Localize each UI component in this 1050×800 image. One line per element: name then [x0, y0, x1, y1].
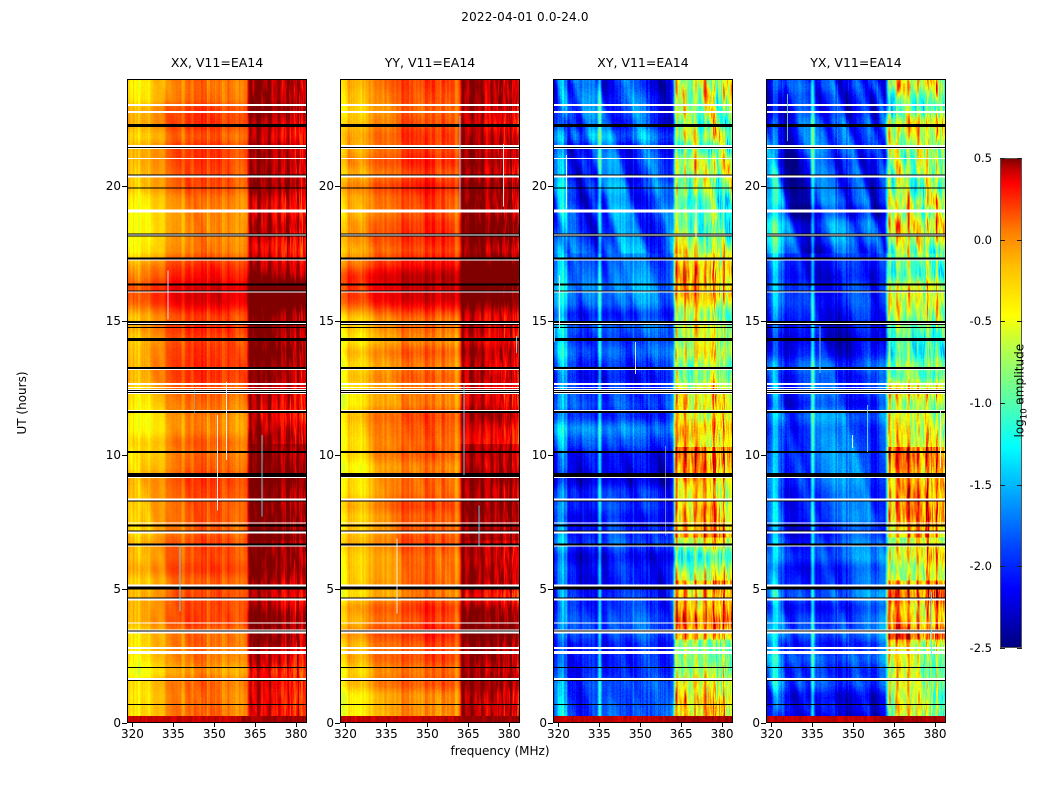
ytick-label: 5 — [726, 582, 760, 596]
colorbar-tick-mark — [1017, 566, 1022, 567]
colorbar-tick-label: -1.0 — [948, 396, 992, 410]
panel-title-xx: XX, V11=EA14 — [127, 54, 307, 72]
xtick-mark — [468, 723, 469, 727]
colorbar-tick-mark — [1000, 158, 1005, 159]
ytick-mark — [122, 321, 127, 322]
xtick-mark — [255, 723, 256, 727]
colorbar[interactable]: 0.50.0-0.5-1.0-1.5-2.0-2.5 log10 amplitu… — [1000, 158, 1022, 648]
xtick-label: 335 — [366, 727, 406, 742]
xtick-label: 335 — [579, 727, 619, 742]
ytick-mark — [335, 321, 340, 322]
y-axis-label: UT (hours) — [15, 343, 29, 463]
ytick-label: 20 — [300, 179, 334, 193]
ytick-mark — [761, 723, 766, 724]
colorbar-label-sub: 10 — [1020, 408, 1030, 419]
heatmap-panel-yx[interactable] — [766, 79, 946, 723]
ytick-label: 20 — [726, 179, 760, 193]
colorbar-tick-mark — [1017, 240, 1022, 241]
ytick-mark — [761, 321, 766, 322]
ytick-mark — [335, 723, 340, 724]
ytick-mark — [122, 186, 127, 187]
colorbar-tick-mark — [1000, 321, 1005, 322]
figure-canvas: 2022-04-01 0.0-24.0 XX, V11=EA14 YY, V11… — [0, 0, 1050, 800]
ytick-label: 5 — [87, 582, 121, 596]
ytick-label: 5 — [300, 582, 334, 596]
colorbar-tick-label: -2.5 — [948, 641, 992, 655]
ytick-mark — [548, 321, 553, 322]
xtick-mark — [640, 723, 641, 727]
ytick-label: 15 — [513, 314, 547, 328]
ytick-mark — [548, 455, 553, 456]
xtick-mark — [599, 723, 600, 727]
ytick-label: 0 — [87, 716, 121, 730]
ytick-label: 10 — [300, 448, 334, 462]
colorbar-tick-mark — [1000, 566, 1005, 567]
ytick-label: 10 — [726, 448, 760, 462]
colorbar-tick-mark — [1000, 485, 1005, 486]
ytick-mark — [122, 455, 127, 456]
xtick-mark — [509, 723, 510, 727]
colorbar-tick-mark — [1017, 648, 1022, 649]
xtick-mark — [345, 723, 346, 727]
heatmap-panel-xx[interactable] — [127, 79, 307, 723]
heatmap-panel-yy[interactable] — [340, 79, 520, 723]
xtick-mark — [173, 723, 174, 727]
xtick-mark — [771, 723, 772, 727]
colorbar-tick-label: 0.0 — [948, 233, 992, 247]
ytick-label: 10 — [513, 448, 547, 462]
xtick-mark — [386, 723, 387, 727]
xtick-mark — [132, 723, 133, 727]
figure-title: 2022-04-01 0.0-24.0 — [0, 10, 1050, 24]
xtick-mark — [894, 723, 895, 727]
xtick-mark — [296, 723, 297, 727]
ytick-mark — [335, 186, 340, 187]
ytick-label: 0 — [513, 716, 547, 730]
xtick-label: 335 — [153, 727, 193, 742]
xtick-mark — [853, 723, 854, 727]
panel-title-yx: YX, V11=EA14 — [766, 54, 946, 72]
heatmap-image-yx — [767, 80, 945, 722]
ytick-label: 15 — [300, 314, 334, 328]
xtick-mark — [812, 723, 813, 727]
xtick-label: 365 — [235, 727, 275, 742]
ytick-label: 0 — [726, 716, 760, 730]
xtick-mark — [427, 723, 428, 727]
xtick-mark — [935, 723, 936, 727]
xtick-label: 350 — [194, 727, 234, 742]
ytick-mark — [335, 455, 340, 456]
colorbar-tick-mark — [1000, 403, 1005, 404]
ytick-mark — [122, 589, 127, 590]
ytick-mark — [122, 723, 127, 724]
ytick-mark — [761, 455, 766, 456]
ytick-mark — [548, 589, 553, 590]
colorbar-tick-label: -0.5 — [948, 314, 992, 328]
colorbar-label: log10 amplitude — [1012, 266, 1029, 516]
ytick-mark — [335, 589, 340, 590]
xtick-label: 350 — [833, 727, 873, 742]
xtick-mark — [722, 723, 723, 727]
panel-title-yy: YY, V11=EA14 — [340, 54, 520, 72]
x-axis-label: frequency (MHz) — [330, 744, 670, 758]
colorbar-tick-label: -2.0 — [948, 559, 992, 573]
ytick-label: 20 — [513, 179, 547, 193]
xtick-label: 365 — [874, 727, 914, 742]
xtick-label: 350 — [407, 727, 447, 742]
xtick-mark — [681, 723, 682, 727]
colorbar-tick-mark — [1000, 648, 1005, 649]
xtick-label: 335 — [792, 727, 832, 742]
xtick-label: 380 — [915, 727, 955, 742]
ytick-label: 0 — [300, 716, 334, 730]
colorbar-label-suffix: amplitude — [1012, 344, 1026, 408]
ytick-mark — [548, 186, 553, 187]
xtick-label: 350 — [620, 727, 660, 742]
ytick-label: 20 — [87, 179, 121, 193]
heatmap-image-xx — [128, 80, 306, 722]
xtick-label: 365 — [661, 727, 701, 742]
colorbar-tick-label: -1.5 — [948, 478, 992, 492]
xtick-label: 365 — [448, 727, 488, 742]
colorbar-tick-mark — [1017, 158, 1022, 159]
heatmap-image-xy — [554, 80, 732, 722]
panel-title-xy: XY, V11=EA14 — [553, 54, 733, 72]
colorbar-tick-label: 0.5 — [948, 151, 992, 165]
ytick-label: 15 — [726, 314, 760, 328]
ytick-label: 5 — [513, 582, 547, 596]
ytick-mark — [548, 723, 553, 724]
heatmap-panel-xy[interactable] — [553, 79, 733, 723]
colorbar-tick-mark — [1000, 240, 1005, 241]
heatmap-image-yy — [341, 80, 519, 722]
xtick-mark — [558, 723, 559, 727]
ytick-label: 15 — [87, 314, 121, 328]
ytick-mark — [761, 589, 766, 590]
ytick-label: 10 — [87, 448, 121, 462]
ytick-mark — [761, 186, 766, 187]
xtick-mark — [214, 723, 215, 727]
colorbar-label-prefix: log — [1012, 419, 1026, 437]
